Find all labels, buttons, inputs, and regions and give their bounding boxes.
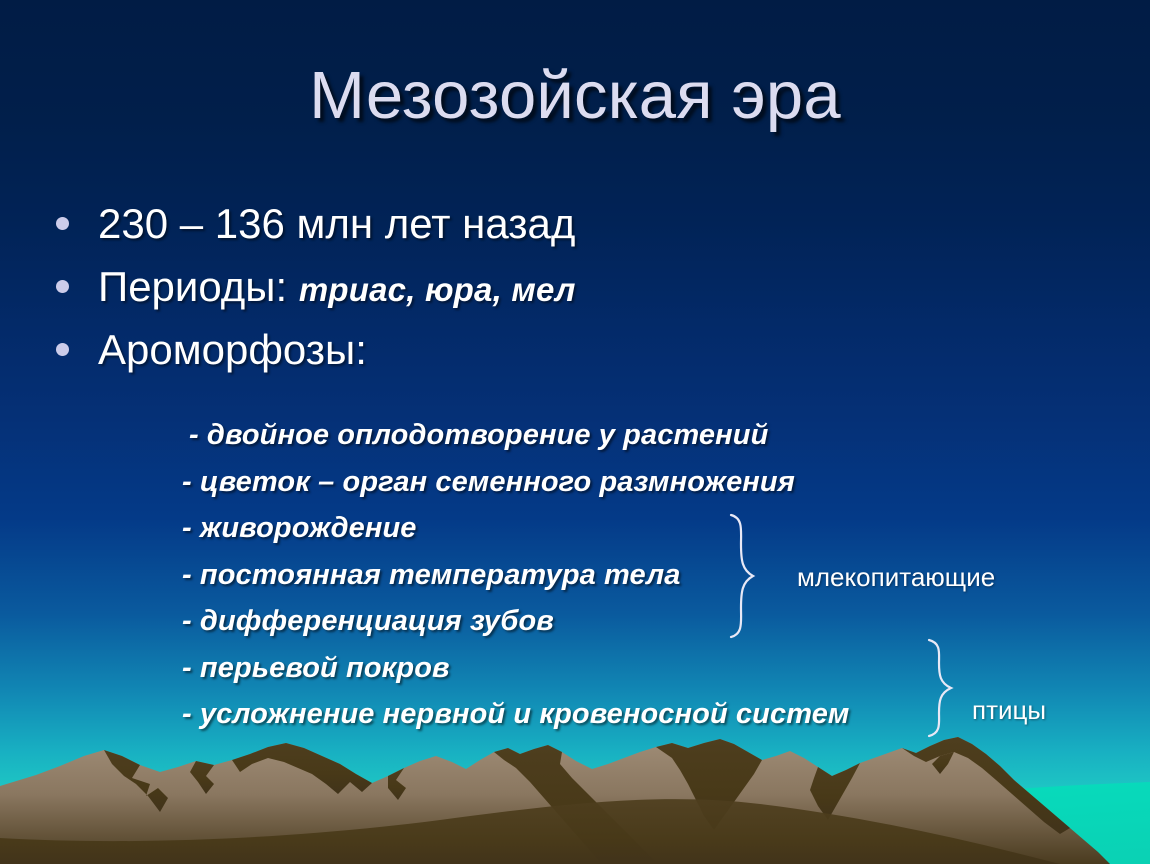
bullet-main-text: 230 – 136 млн лет назад [98,200,575,247]
list-item: - дифференциация зубов [182,598,962,645]
bullet-main-text: Периоды: [98,263,299,310]
slide: Мезозойская эра 230 – 136 млн лет назад … [0,0,1150,864]
bullet-emphasis-text: триас, юра, мел [299,271,576,308]
group-label-birds: птицы [972,695,1046,726]
bullet-label: Периоды: триас, юра, мел [98,263,576,310]
list-item: - живорождение [182,505,962,552]
list-item: - усложнение нервной и кровеносной систе… [182,691,962,738]
mountain-range-svg [0,734,1150,864]
list-item: - перьевой покров [182,645,962,692]
mountain-scenery [0,734,1150,864]
bullet-dot-icon [56,280,69,293]
bullet-list: 230 – 136 млн лет назад Периоды: триас, … [56,200,856,389]
list-item: Ароморфозы: [56,326,856,373]
bullet-dot-icon [56,343,69,356]
page-title: Мезозойская эра [0,62,1150,130]
group-label-mammals: млекопитающие [797,562,995,593]
list-item: 230 – 136 млн лет назад [56,200,856,247]
bullet-dot-icon [56,217,69,230]
bullet-label: Ароморфозы: [98,326,367,373]
bullet-main-text: Ароморфозы: [98,326,367,373]
bullet-label: 230 – 136 млн лет назад [98,200,575,247]
list-item: - двойное оплодотворение у растений [182,412,962,459]
list-item: Периоды: триас, юра, мел [56,263,856,310]
list-item: - цветок – орган семенного размножения [182,459,962,506]
